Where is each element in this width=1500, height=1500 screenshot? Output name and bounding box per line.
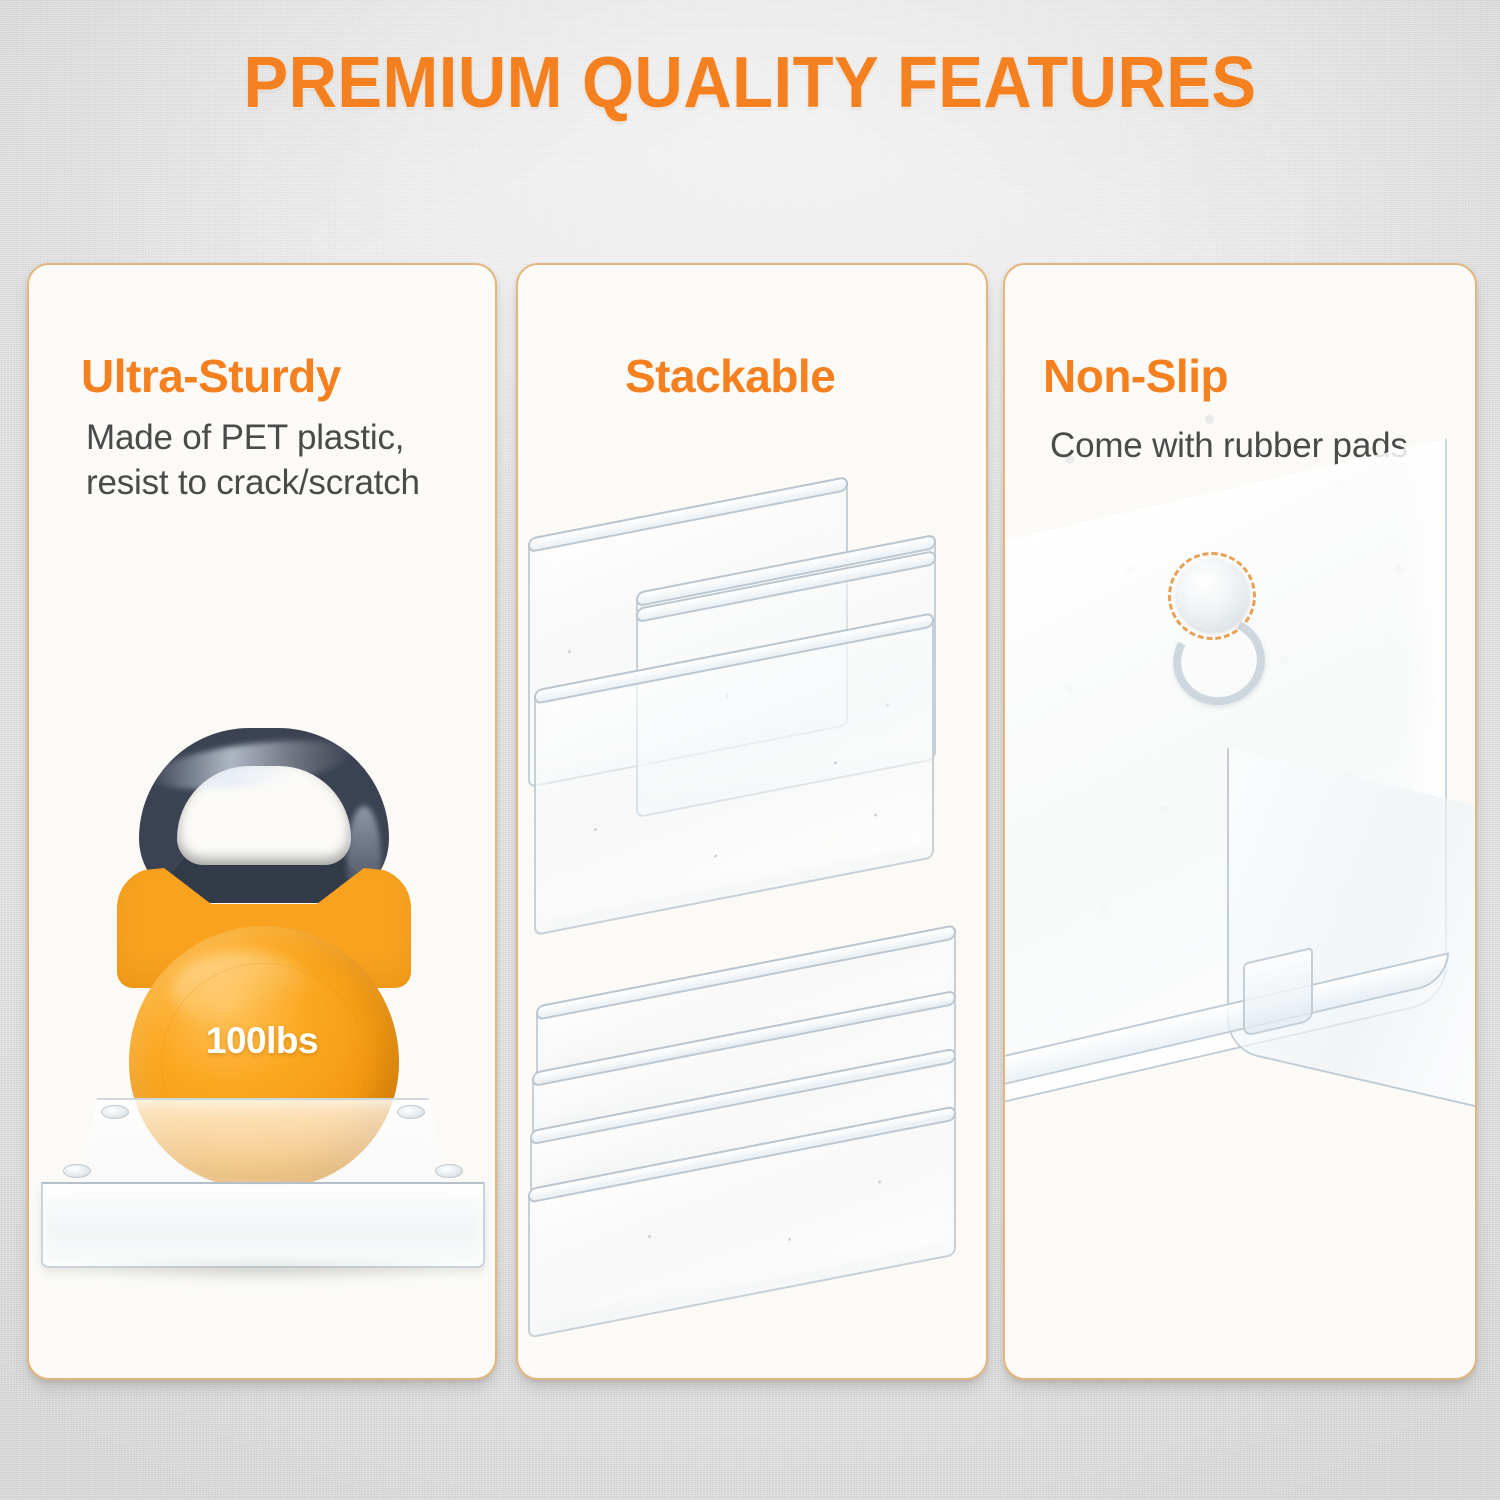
card-content-ultra-sturdy: Ultra-Sturdy Made of PET plastic, resist…	[29, 265, 495, 1378]
card-body-line-1: Made of PET plastic,	[86, 415, 486, 460]
card-heading-ultra-sturdy: Ultra-Sturdy	[81, 351, 341, 401]
card-content-non-slip: Non-Slip Come with rubber pads	[1005, 265, 1475, 1378]
tray-rubber-pad	[435, 1164, 463, 1178]
bin-side-wall	[1227, 748, 1477, 1108]
acrylic-tray	[37, 1098, 487, 1290]
kettlebell-illustration: 100lbs	[29, 720, 495, 1300]
upper-bin-stack	[518, 495, 986, 925]
tray-top-surface	[75, 1098, 451, 1194]
feature-card-ultra-sturdy: Ultra-Sturdy Made of PET plastic, resist…	[27, 263, 497, 1380]
feature-card-non-slip: Non-Slip Come with rubber pads	[1003, 263, 1477, 1380]
kettlebell-weight-label: 100lbs	[29, 1020, 495, 1062]
kettlebell-handle-icon	[139, 728, 389, 903]
card-body-ultra-sturdy: Made of PET plastic, resist to crack/scr…	[86, 415, 486, 505]
card-heading-stackable: Stackable	[625, 351, 835, 401]
feature-card-stackable: Stackable	[516, 263, 988, 1380]
tray-front-wall	[41, 1182, 485, 1268]
tray-rubber-pad	[101, 1105, 129, 1119]
lower-bin-stack	[518, 955, 986, 1380]
card-body-line-2: resist to crack/scratch	[86, 460, 486, 505]
non-slip-illustration	[1005, 265, 1475, 1378]
page-title: PREMIUM QUALITY FEATURES	[53, 47, 1448, 119]
tray-shadow	[77, 1258, 457, 1282]
tray-rubber-pad	[63, 1164, 91, 1178]
tray-rubber-pad	[397, 1105, 425, 1119]
card-content-stackable: Stackable	[518, 265, 986, 1378]
surface-dot	[1065, 455, 1074, 464]
surface-dot	[1205, 415, 1214, 424]
